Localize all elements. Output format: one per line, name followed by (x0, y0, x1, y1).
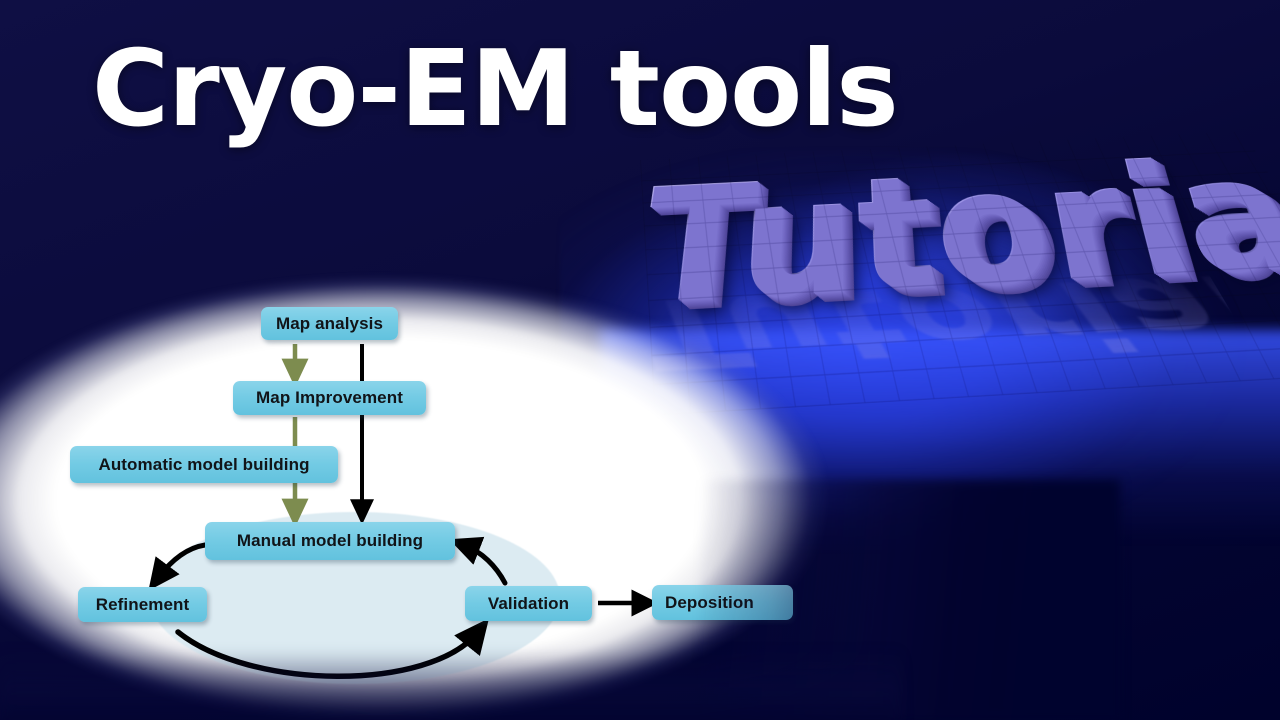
node-automatic-model-building[interactable]: Automatic model building (70, 446, 338, 483)
node-manual-model-building[interactable]: Manual model building (205, 522, 455, 560)
arrow-manual-model-building-to-refinement (158, 545, 205, 578)
node-refinement[interactable]: Refinement (78, 587, 207, 622)
node-map-improvement[interactable]: Map Improvement (233, 381, 426, 415)
slide-canvas: Tutorial Tutorial (0, 0, 1280, 720)
bottom-edge-vignette (0, 650, 900, 720)
arrow-validation-to-manual-model-building (464, 545, 505, 583)
node-validation[interactable]: Validation (465, 586, 592, 621)
page-title: Cryo-EM tools (92, 34, 898, 144)
node-map-analysis[interactable]: Map analysis (261, 307, 398, 340)
